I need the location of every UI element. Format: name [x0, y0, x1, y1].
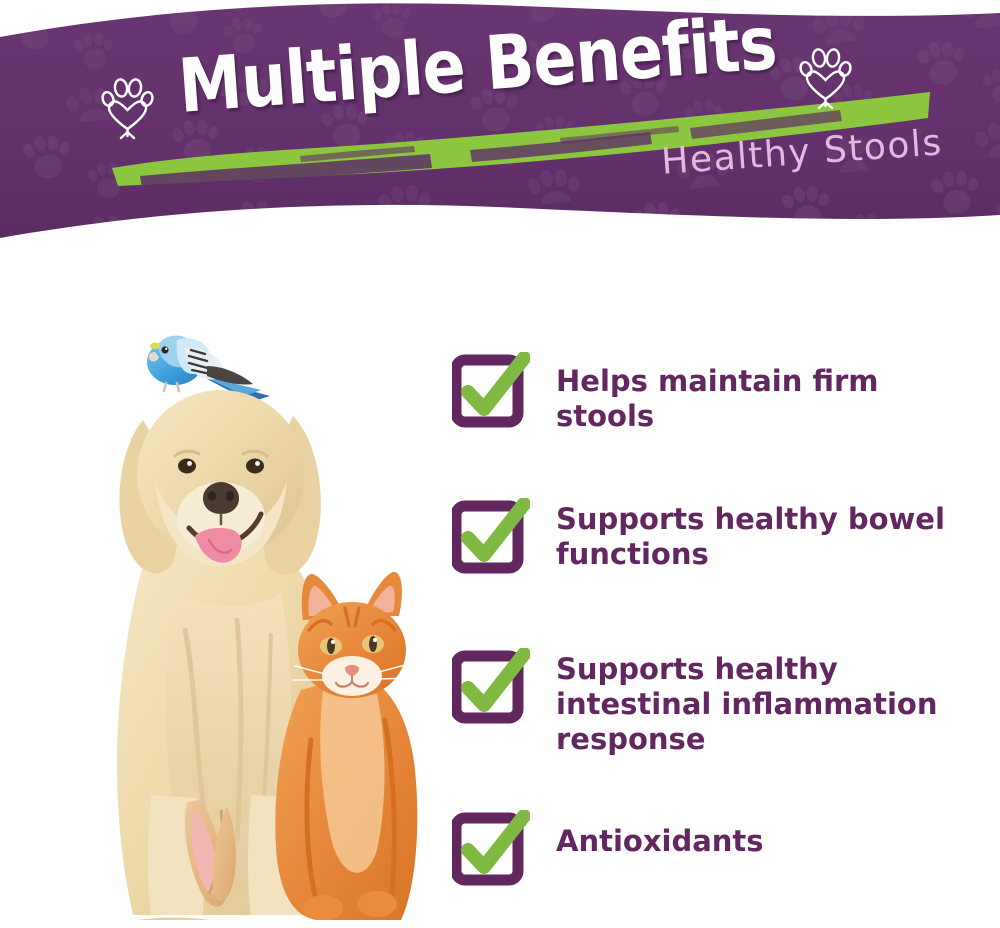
- benefit-label: Antioxidants: [556, 810, 764, 859]
- benefit-label: Helps maintain firm stools: [556, 352, 986, 434]
- benefit-item: Supports healthy intestinal inflammation…: [452, 648, 986, 757]
- pets-illustration: [55, 290, 435, 920]
- benefit-label: Supports healthy intestinal inflammation…: [556, 648, 986, 757]
- benefit-label: Supports healthy bowel functions: [556, 498, 986, 572]
- paw-heart-icon: [100, 74, 156, 140]
- checkbox-checked-icon: [452, 498, 530, 574]
- product-benefits-infographic: Multiple Benefits Healthy Stools: [0, 0, 1000, 928]
- benefit-item: Supports healthy bowel functions: [452, 498, 986, 574]
- benefit-item: Helps maintain firm stools: [452, 352, 986, 434]
- header-banner: Multiple Benefits Healthy Stools: [0, 0, 1000, 250]
- pets-photo: [55, 290, 435, 920]
- checkbox-checked-icon: [452, 810, 530, 886]
- checkbox-checked-icon: [452, 352, 530, 428]
- paw-heart-icon: [798, 44, 854, 110]
- checkbox-checked-icon: [452, 648, 530, 724]
- benefit-item: Antioxidants: [452, 810, 764, 886]
